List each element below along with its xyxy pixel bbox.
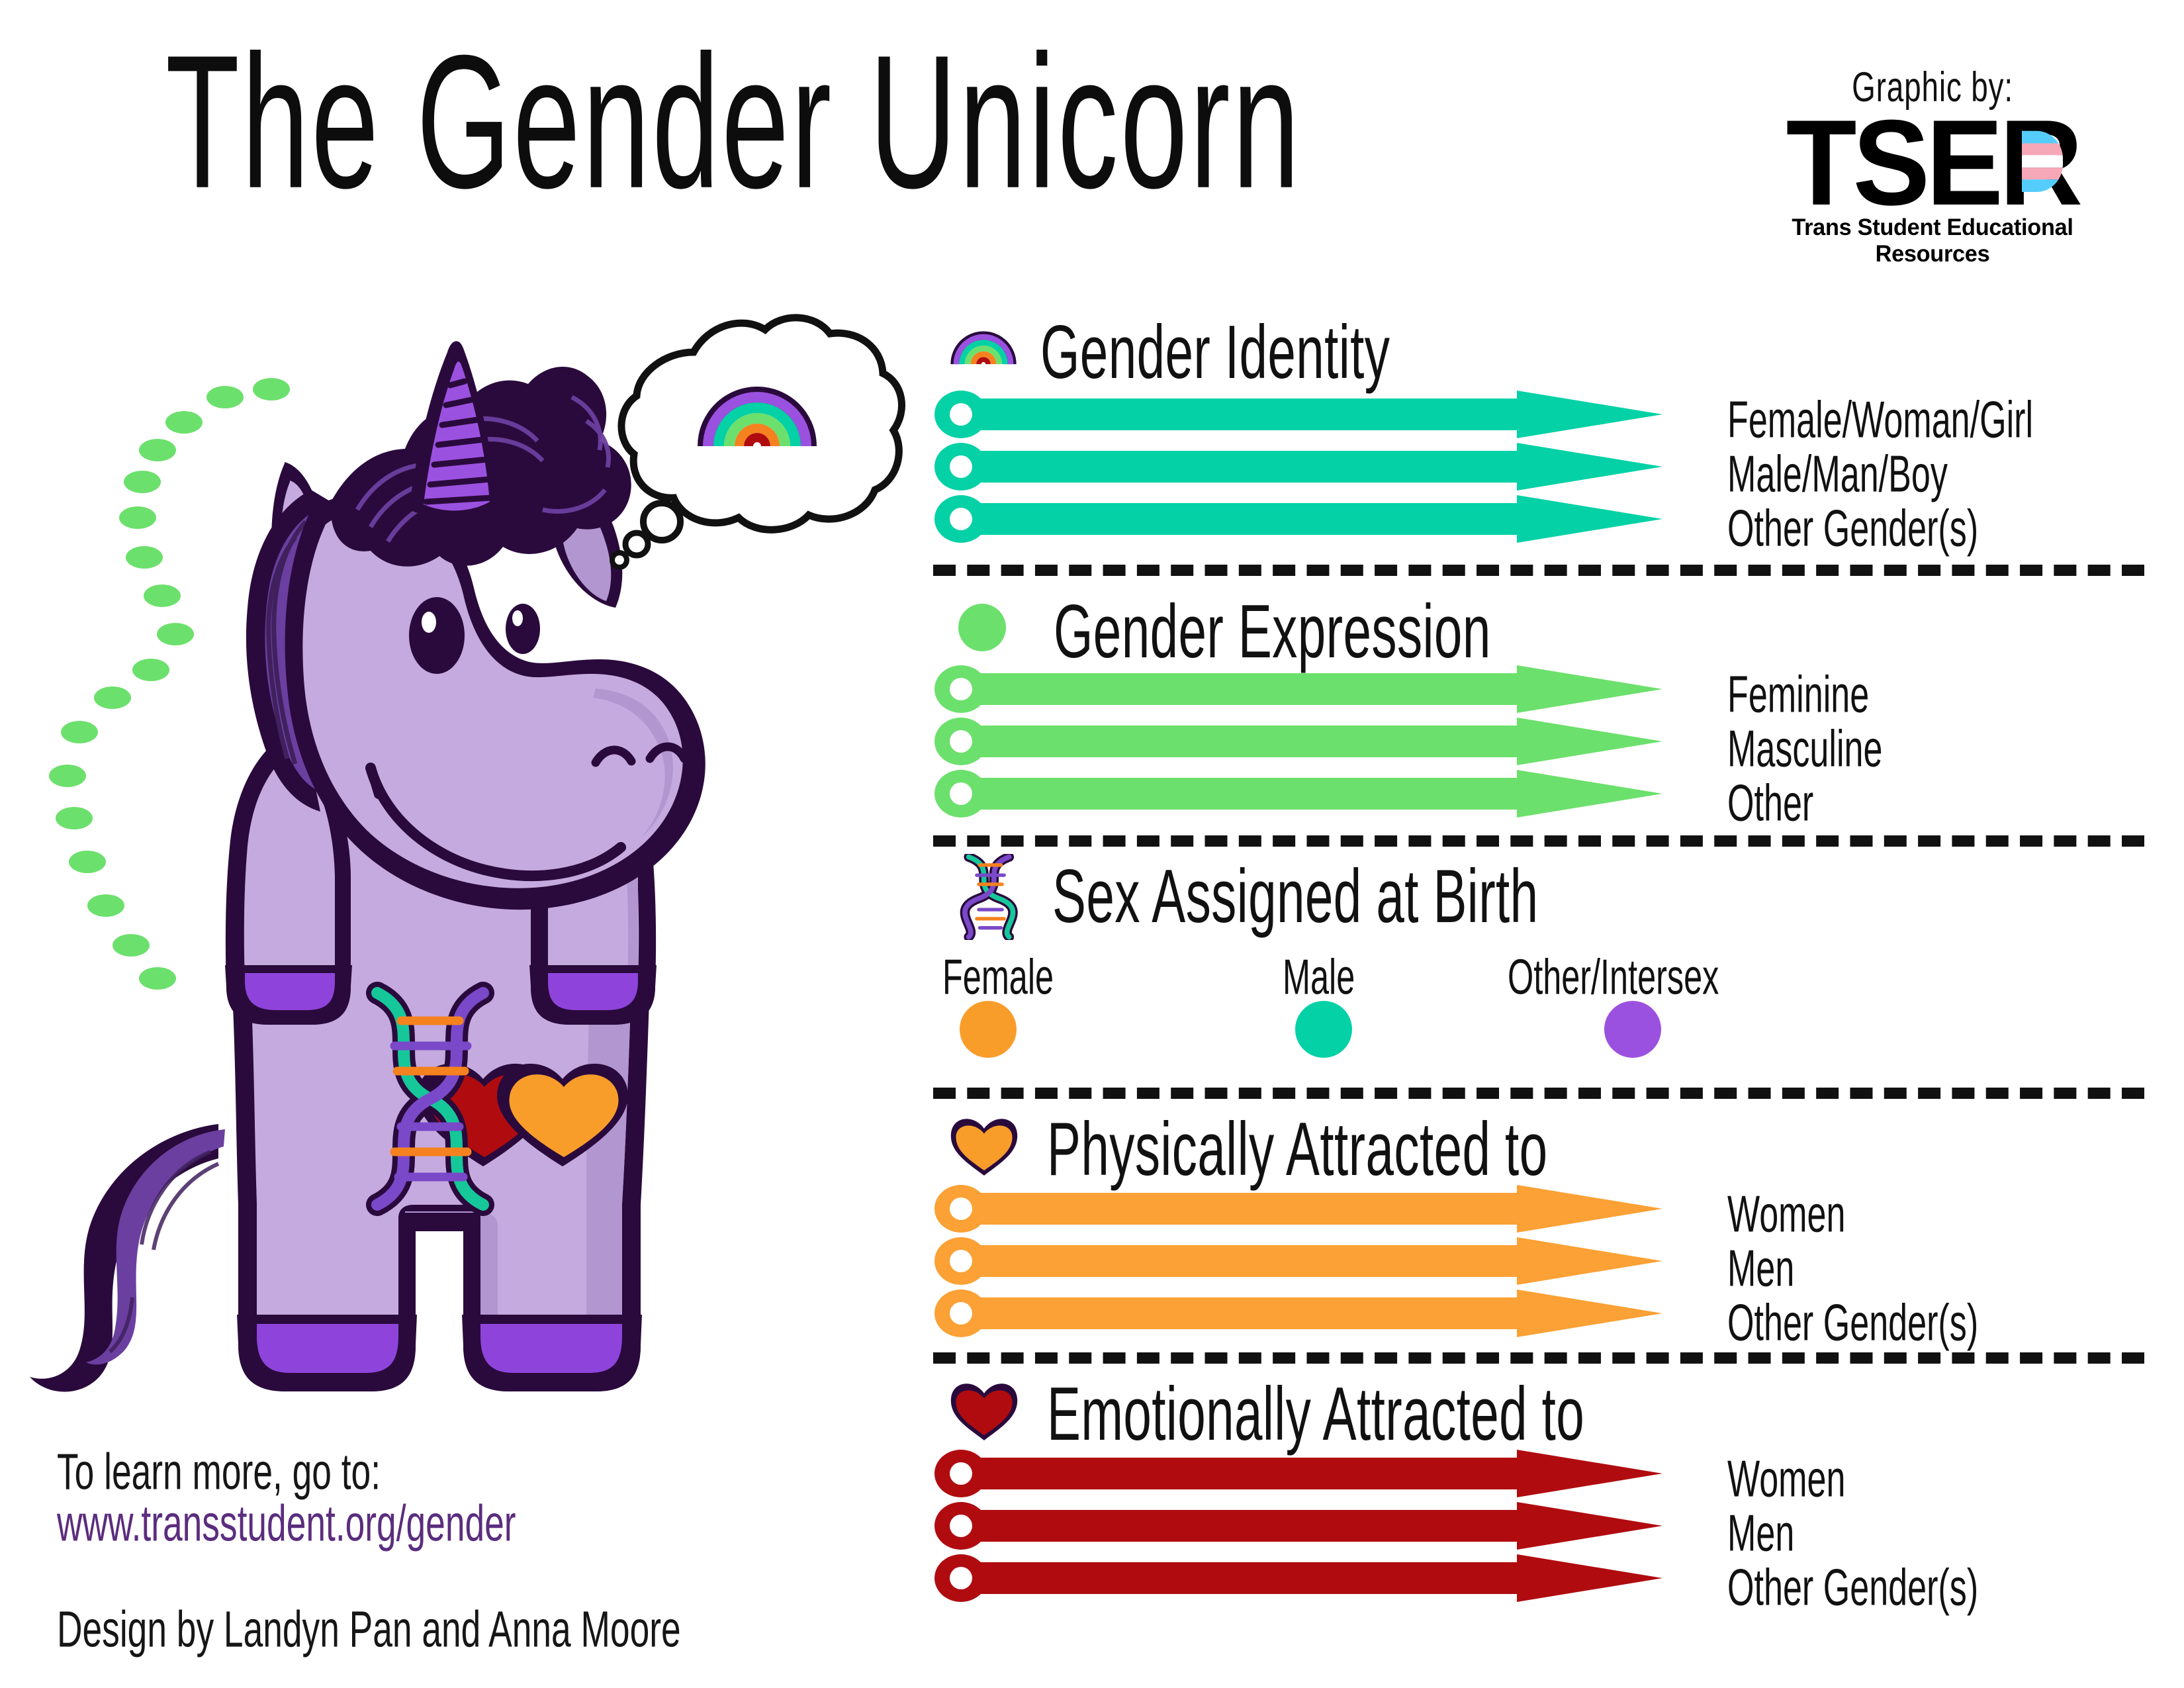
option-label: Other Gender(s) (1727, 1558, 1978, 1617)
arrow-track (934, 391, 1662, 438)
section-title: Emotionally Attracted to (1047, 1372, 1584, 1458)
rainbow-icon (948, 318, 1019, 372)
green-circle-icon (958, 604, 1006, 651)
right-eye-glint (512, 610, 523, 626)
section-divider-3 (933, 1088, 2144, 1099)
option-label: Male/Man/Boy (1727, 445, 1948, 504)
dna-icon (960, 854, 1019, 940)
right-leg-cuff (480, 1324, 622, 1373)
option-label: Women (1727, 1450, 1846, 1509)
tser-letter-s: S (1853, 106, 1927, 222)
section-emotionally-attracted-header: Emotionally Attracted to (948, 1372, 1695, 1441)
bubble-dot-large (643, 503, 680, 540)
left-eye-glint (422, 612, 436, 633)
red-heart-icon (948, 1378, 1021, 1442)
section-divider-2 (933, 835, 2144, 847)
design-by-label: Design by Landyn Pan and Anna Moore (57, 1601, 681, 1659)
arrow-track (934, 770, 1662, 818)
option-label: Women (1727, 1185, 1846, 1244)
sab-label-female: Female (942, 948, 1054, 1006)
option-label: Other Gender(s) (1727, 1293, 1978, 1352)
arrow-track (934, 665, 1662, 713)
option-label: Other Gender(s) (1727, 499, 1978, 558)
learn-more-label: To learn more, go to: (57, 1443, 381, 1501)
emotionally-attracted-arrows (934, 1450, 1762, 1602)
bubble-dot-small (612, 553, 627, 567)
option-label: Men (1727, 1239, 1794, 1298)
tser-logo: Graphic by: T S E R Trans Student Educat… (1747, 63, 2118, 267)
arrow-track (934, 495, 1662, 543)
section-gender-identity-header: Gender Identity (948, 310, 1462, 379)
option-label: Feminine (1727, 665, 1869, 724)
sab-dot-other (1604, 1001, 1661, 1058)
arrow-track (934, 1289, 1662, 1337)
arrow-track (934, 1554, 1662, 1602)
tser-letter-t: T (1786, 106, 1853, 222)
arrow-track (934, 1237, 1662, 1285)
green-dot-arc (40, 371, 318, 1271)
right-cuff (548, 973, 638, 1010)
arrow-track (934, 443, 1662, 491)
option-label: Masculine (1727, 720, 1882, 778)
option-label: Other (1727, 774, 1813, 833)
transstudent-url-link[interactable]: www.transstudent.org/gender (57, 1495, 516, 1553)
section-title: Gender Identity (1040, 310, 1390, 396)
bubble-dot-medium (625, 533, 648, 555)
tser-wordmark: T S E R (1747, 106, 2118, 222)
arrow-track (934, 1185, 1662, 1233)
section-title: Physically Attracted to (1047, 1107, 1548, 1193)
section-gender-expression-header: Gender Expression (948, 589, 1580, 659)
option-label: Female/Woman/Girl (1727, 391, 2033, 449)
section-sex-assigned-at-birth-header: Sex Assigned at Birth (960, 854, 1638, 923)
sab-label-male: Male (1283, 948, 1355, 1006)
sab-label-other: Other/Intersex (1508, 948, 1719, 1006)
gender-identity-arrows (934, 391, 1762, 543)
left-leg-cuff (257, 1324, 398, 1373)
tser-letter-r: R (1999, 106, 2079, 222)
tser-full-name: Trans Student Educational Resources (1751, 214, 2115, 267)
option-label: Men (1727, 1504, 1794, 1563)
orange-heart-icon (948, 1113, 1021, 1177)
arrow-track (934, 1502, 1662, 1550)
arrow-track (934, 718, 1662, 765)
sab-dot-female (960, 1001, 1017, 1058)
right-eye (506, 604, 540, 654)
thought-bubble (609, 311, 907, 569)
section-divider-4 (933, 1352, 2144, 1364)
section-title: Gender Expression (1054, 589, 1491, 675)
section-title: Sex Assigned at Birth (1052, 854, 1539, 940)
section-divider-1 (933, 565, 2144, 576)
section-physically-attracted-header: Physically Attracted to (948, 1107, 1650, 1176)
sab-dot-male (1295, 1001, 1352, 1058)
arrow-track (934, 1450, 1662, 1497)
tser-letter-e: E (1926, 106, 1999, 222)
left-eye (409, 597, 465, 674)
gender-expression-arrows (934, 665, 1762, 818)
page-title: The Gender Unicorn (165, 26, 1302, 216)
physically-attracted-arrows (934, 1185, 1762, 1337)
